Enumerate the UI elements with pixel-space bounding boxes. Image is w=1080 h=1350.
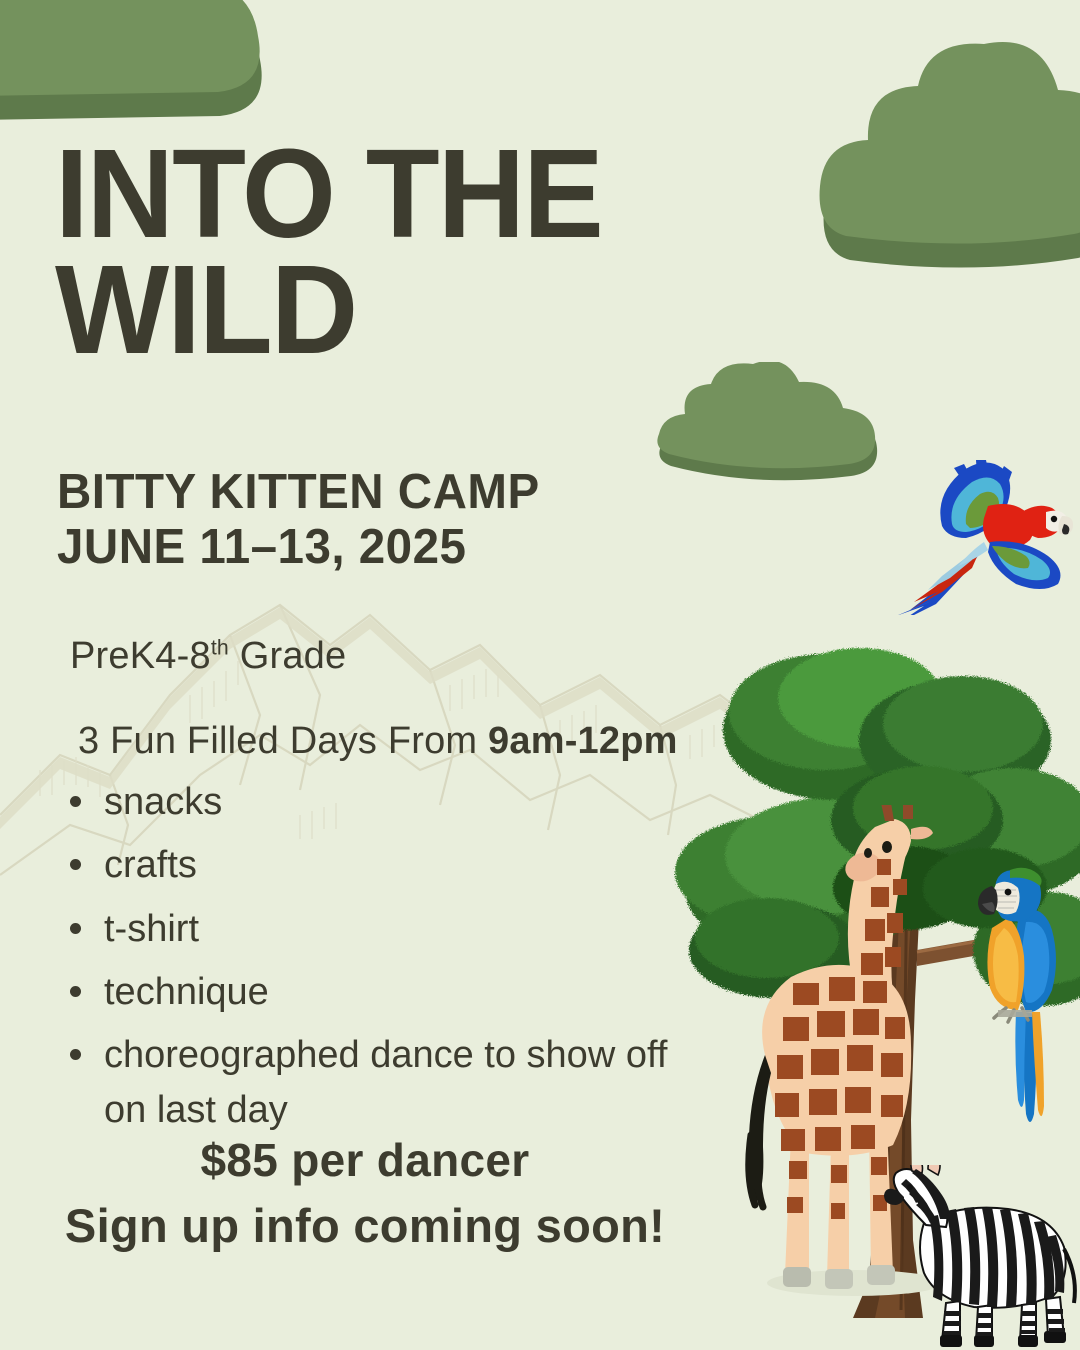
poster-canvas: INTO THE WILD BITTY KITTEN CAMP JUNE 11–… <box>0 0 1080 1350</box>
schedule-time: 9am-12pm <box>488 720 678 762</box>
schedule-line: 3 Fun Filled Days From 9am-12pm <box>78 720 678 763</box>
event-subtitle: BITTY KITTEN CAMP JUNE 11–13, 2025 <box>57 465 794 575</box>
page-title: INTO THE WILD <box>55 136 746 368</box>
text-content: INTO THE WILD BITTY KITTEN CAMP JUNE 11–… <box>0 0 1080 1350</box>
list-item: crafts <box>62 838 712 892</box>
list-item: choreographed dance to show off on last … <box>62 1028 712 1137</box>
list-item: t-shirt <box>62 902 712 956</box>
price-line: $85 per dancer <box>0 1133 730 1187</box>
grade-superscript: th <box>211 635 229 659</box>
grade-suffix: Grade <box>229 635 346 677</box>
schedule-text: 3 Fun Filled Days From <box>78 720 488 762</box>
list-item: snacks <box>62 775 712 829</box>
grade-prefix: PreK4-8 <box>70 635 211 677</box>
list-item: technique <box>62 965 712 1019</box>
includes-list: snacks crafts t-shirt technique choreogr… <box>62 775 712 1146</box>
signup-line: Sign up info coming soon! <box>0 1198 730 1253</box>
grade-range: PreK4-8th Grade <box>70 635 346 678</box>
